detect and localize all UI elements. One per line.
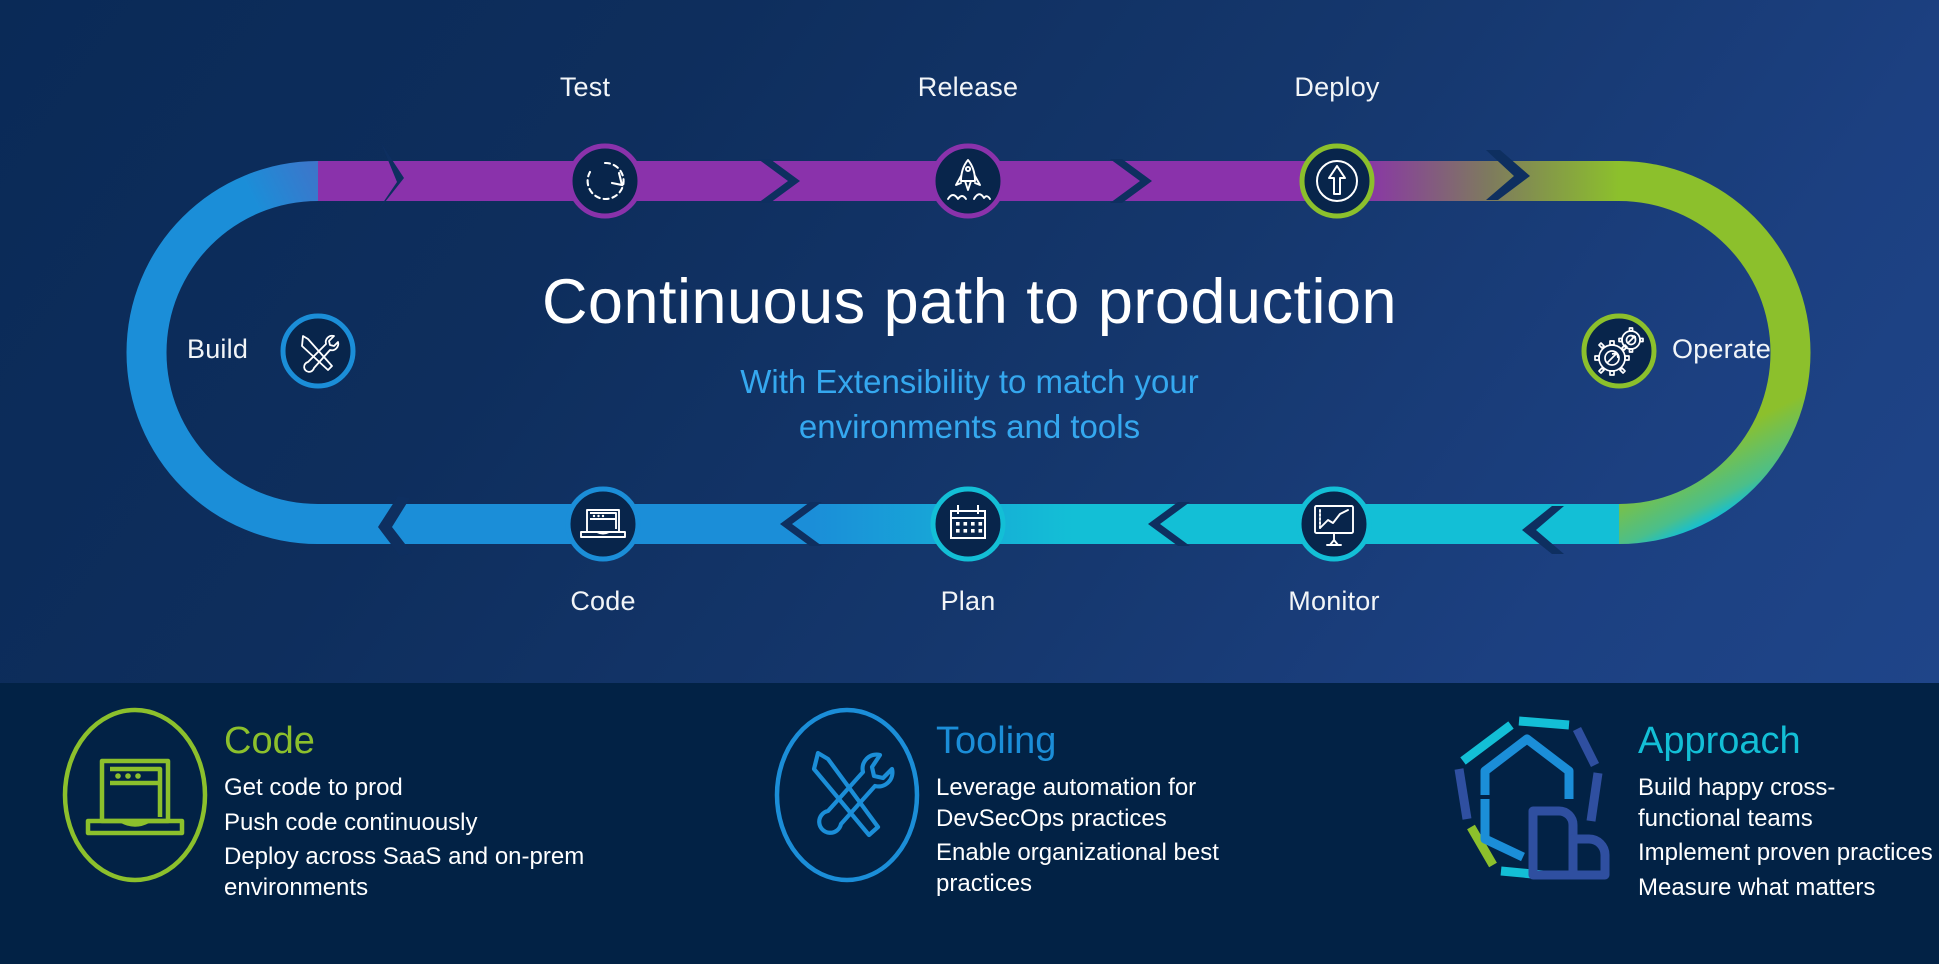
card-line: Build happy cross-functional teams	[1638, 773, 1928, 834]
card-line: Push code continuously	[224, 808, 624, 839]
hero-subtitle-line-2: environments and tools	[0, 405, 1939, 450]
stage-label-deploy: Deploy	[1272, 72, 1402, 103]
highlight-card-approach: Approach Build happy cross-functional te…	[1430, 699, 1939, 904]
card-title-tooling: Tooling	[936, 721, 1236, 763]
laptop-outline-icon	[46, 699, 224, 891]
stage-label-plan: Plan	[908, 586, 1028, 617]
card-line: Get code to prod	[224, 773, 624, 804]
card-title-approach: Approach	[1638, 721, 1933, 763]
card-line: Leverage automation for DevSecOps practi…	[936, 773, 1236, 834]
stage-node-release[interactable]	[933, 146, 1003, 216]
card-title-code: Code	[224, 721, 624, 763]
card-text-tooling: Tooling Leverage automation for DevSecOp…	[936, 699, 1236, 900]
card-text-code: Code Get code to prod Push code continuo…	[224, 699, 624, 904]
card-line: Enable organizational best practices	[936, 838, 1236, 899]
stage-label-monitor: Monitor	[1264, 586, 1404, 617]
stage-label-code: Code	[543, 586, 663, 617]
hero-title: Continuous path to production	[0, 269, 1939, 335]
highlights-panel: Code Get code to prod Push code continuo…	[0, 683, 1939, 964]
highlight-card-tooling: Tooling Leverage automation for DevSecOp…	[740, 699, 1430, 900]
polygon-blocks-icon	[1442, 699, 1638, 891]
stage-node-monitor[interactable]	[1299, 489, 1369, 559]
devops-loop-infographic: Test Release Deploy Operate Monitor Plan…	[0, 0, 1939, 964]
stage-label-test: Test	[540, 72, 630, 103]
stage-node-code[interactable]	[568, 489, 638, 559]
card-line: Deploy across SaaS and on-prem environme…	[224, 842, 624, 903]
hero-subtitle: With Extensibility to match your environ…	[0, 360, 1939, 449]
card-line: Implement proven practices	[1638, 838, 1933, 869]
card-line: Measure what matters	[1638, 873, 1933, 904]
stage-node-deploy[interactable]	[1302, 146, 1372, 216]
stage-node-test[interactable]	[570, 146, 640, 216]
hero-section: Test Release Deploy Operate Monitor Plan…	[0, 0, 1939, 683]
stage-label-release: Release	[903, 72, 1033, 103]
highlight-card-code: Code Get code to prod Push code continuo…	[0, 699, 740, 904]
hero-subtitle-line-1: With Extensibility to match your	[0, 360, 1939, 405]
tools-outline-icon	[758, 699, 936, 891]
card-text-approach: Approach Build happy cross-functional te…	[1638, 699, 1933, 904]
highlight-cards: Code Get code to prod Push code continuo…	[0, 683, 1939, 964]
stage-node-plan[interactable]	[933, 489, 1003, 559]
